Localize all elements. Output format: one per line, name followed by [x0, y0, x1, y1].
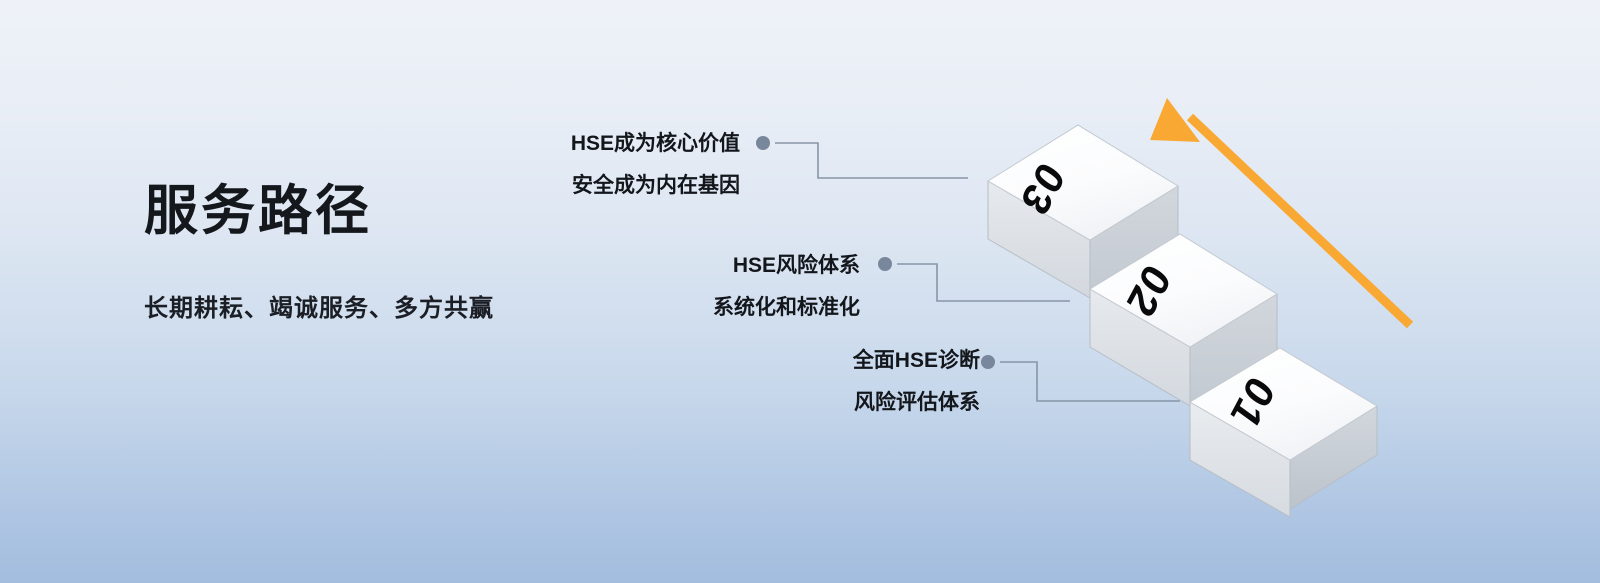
connector-line-step-03	[756, 136, 968, 178]
callout-step-02: HSE风险体系 系统化和标准化	[380, 255, 860, 318]
callout-step-01: 全面HSE诊断 风险评估体系	[500, 350, 980, 413]
callout-step-02-line2: 系统化和标准化	[380, 276, 860, 318]
connector-dot-step-03	[756, 136, 770, 150]
connector-dot-step-01	[981, 355, 995, 369]
callout-step-03-line2: 安全成为内在基因	[260, 154, 740, 196]
callout-step-03-line1: HSE成为核心价值	[260, 133, 740, 154]
callout-step-01-line2: 风险评估体系	[500, 371, 980, 413]
slide-canvas: 服务路径 长期耕耘、竭诚服务、多方共赢	[0, 0, 1600, 583]
callout-step-02-line1: HSE风险体系	[380, 255, 860, 276]
connector-dot-step-02	[878, 257, 892, 271]
callout-step-01-line1: 全面HSE诊断	[500, 350, 980, 371]
callout-step-03: HSE成为核心价值 安全成为内在基因	[260, 133, 740, 196]
